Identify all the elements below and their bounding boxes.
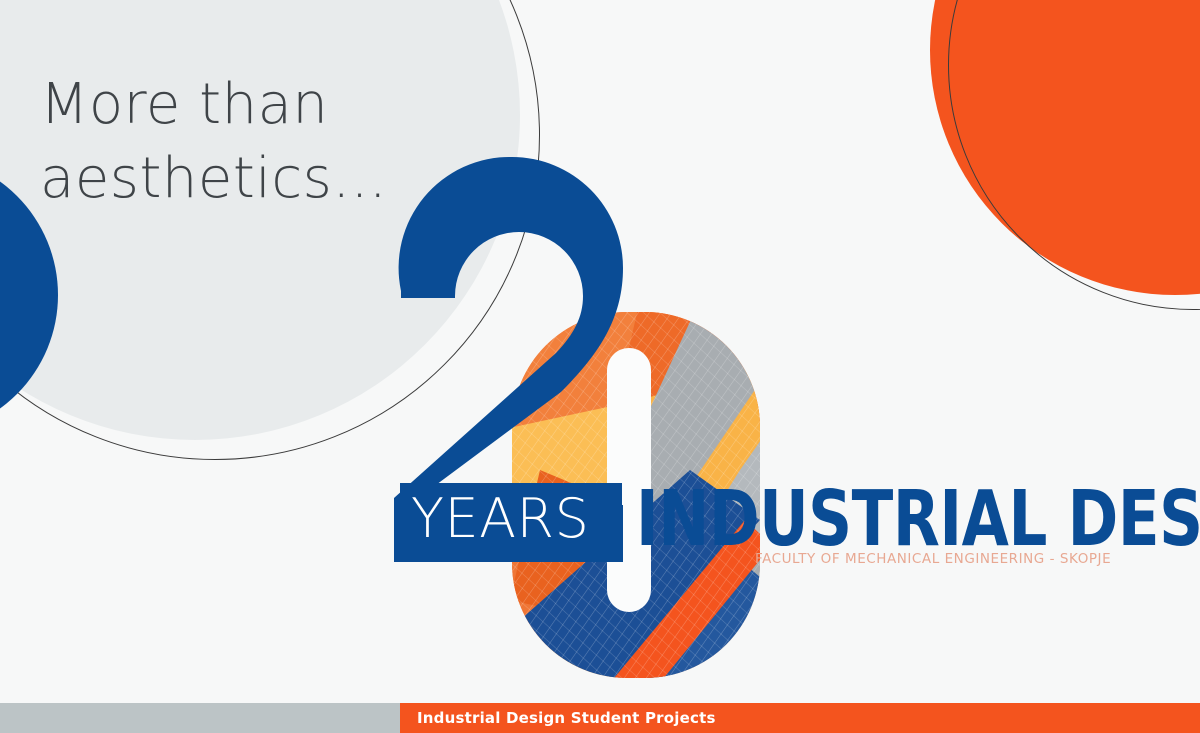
logo-subtitle: FACULTY OF MECHANICAL ENGINEERING - SKOP… xyxy=(755,551,1111,567)
footer-bar: Industrial Design Student Projects xyxy=(0,703,1200,733)
logo-wordmark: INDUSTRIAL DESIGN xyxy=(636,475,1200,563)
logo-zero-counter xyxy=(607,348,651,612)
logo-years-block xyxy=(400,483,622,551)
logo-years-label: YEARS xyxy=(411,487,589,550)
decorative-outline-circle-right xyxy=(948,0,1200,310)
slide-headline: More than aesthetics... xyxy=(40,68,460,217)
logo-zero-glyph xyxy=(500,300,775,695)
footer-caption: Industrial Design Student Projects xyxy=(400,709,716,727)
footer-gray-segment xyxy=(0,703,400,733)
slide-canvas: More than aesthetics... xyxy=(0,0,1200,733)
footer-orange-segment: Industrial Design Student Projects xyxy=(400,703,1200,733)
